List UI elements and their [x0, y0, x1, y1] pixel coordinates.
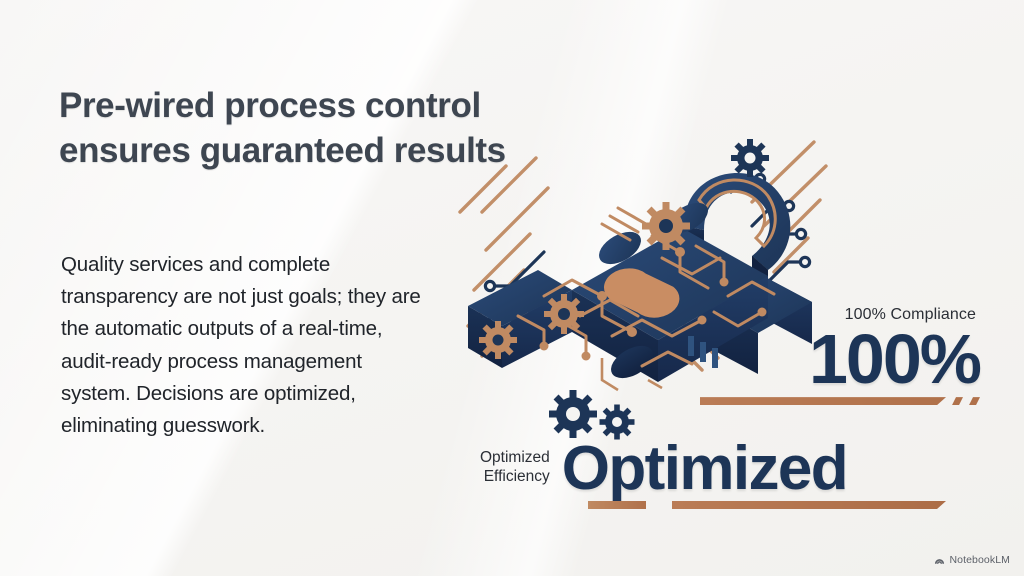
- stat-optimized: Optimized Efficiency Optimized: [480, 440, 980, 510]
- stat-optimized-value: Optimized: [562, 440, 980, 497]
- rule-bar: [700, 397, 946, 405]
- rule-slash-1: [952, 397, 963, 405]
- stat-optimized-caption: Optimized Efficiency: [480, 449, 550, 497]
- stat-optimized-rule: [588, 501, 980, 510]
- gear-center: [642, 202, 690, 250]
- gear-top: [731, 139, 769, 177]
- notebooklm-logo-icon: [934, 555, 945, 566]
- slide-canvas: Pre-wired process control ensures guaran…: [0, 0, 1024, 576]
- stat-compliance-rule: [610, 397, 980, 406]
- rule-stub: [588, 501, 646, 509]
- stat-compliance-value: 100%: [610, 326, 980, 393]
- stat-compliance: 100% Compliance 100%: [610, 306, 980, 406]
- rule-slash-2: [969, 397, 980, 405]
- gear-lower-left-large: [549, 390, 597, 438]
- gear-left-edge: [479, 321, 517, 359]
- gear-left: [544, 294, 584, 334]
- circuit-puzzle-illustration: [452, 130, 922, 460]
- body-paragraph: Quality services and complete transparen…: [61, 249, 436, 443]
- rule-bar: [672, 501, 946, 509]
- notebooklm-watermark: NotebookLM: [934, 554, 1010, 566]
- notebooklm-label: NotebookLM: [949, 554, 1010, 566]
